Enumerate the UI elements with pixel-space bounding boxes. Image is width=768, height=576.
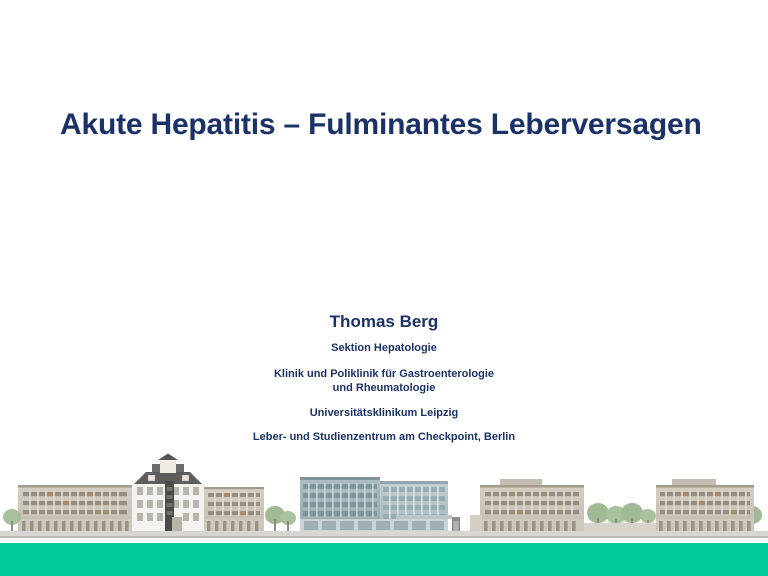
- affiliation-line-1: Sektion Hepatologie: [0, 342, 768, 356]
- campus-elevation-drawing: [0, 453, 768, 543]
- author-block: Thomas Berg Sektion Hepatologie Klinik u…: [0, 312, 768, 445]
- building-institute-right: [656, 479, 754, 531]
- affiliation-line-2: Klinik und Poliklinik für Gastroenterolo…: [0, 367, 768, 396]
- affiliation-line-3: Universitätsklinikum Leipzig: [0, 407, 768, 421]
- affiliation-line-4: Leber- und Studienzentrum am Checkpoint,…: [0, 431, 768, 445]
- green-accent-band: [0, 543, 768, 576]
- ground-edge-line: [0, 536, 768, 538]
- building-institute-center-right: [470, 479, 584, 531]
- campus-illustration: [0, 453, 768, 543]
- connector-wing: [584, 523, 656, 531]
- building-historic-villa: [132, 454, 204, 532]
- building-beige-second: [204, 487, 264, 531]
- building-glass-modern: [300, 477, 460, 531]
- author-name: Thomas Berg: [0, 312, 768, 332]
- page-title: Akute Hepatitis – Fulminantes Leberversa…: [60, 108, 720, 143]
- slide-root: Akute Hepatitis – Fulminantes Leberversa…: [0, 0, 768, 576]
- building-left-beige: [18, 485, 132, 531]
